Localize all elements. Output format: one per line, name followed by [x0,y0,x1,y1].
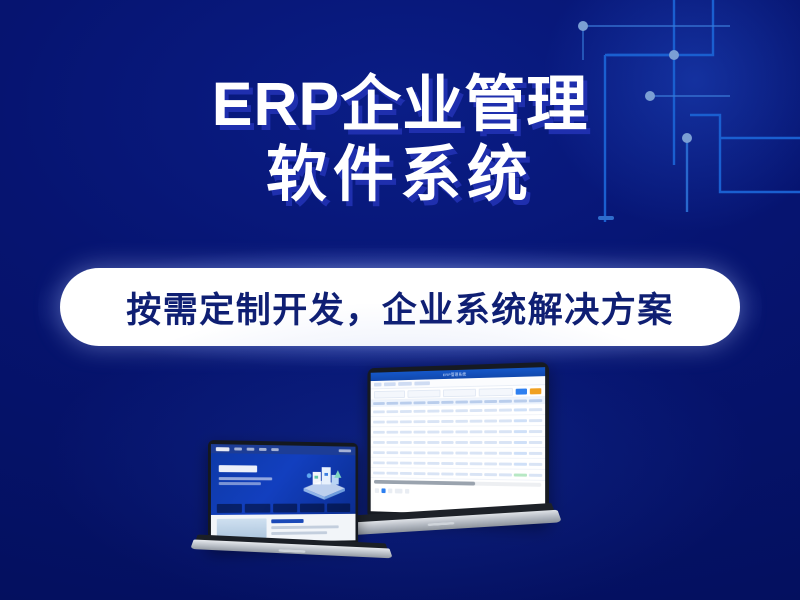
subtitle-pill-wrapper: 按需定制开发，企业系统解决方案 [60,268,740,346]
subtitle-text: 按需定制开发，企业系统解决方案 [126,282,674,333]
website-logo [216,447,230,451]
breadcrumb-chip[interactable] [414,381,430,385]
nav-item[interactable] [259,448,267,451]
website-hero [211,453,356,515]
isometric-illustration-icon [298,464,350,505]
nav-item[interactable] [234,448,242,451]
device-stage: ERP管理系统 [0,362,800,600]
filter-input[interactable] [443,388,476,396]
erp-brand-label: ERP管理系统 [443,371,466,377]
corporate-website-laptop [208,440,398,590]
search-button[interactable] [516,388,527,394]
website-screen [211,444,356,543]
footer-text-block [271,518,350,537]
hero-subtitle-line [219,477,272,480]
export-button[interactable] [530,388,541,394]
hero-card-row [217,503,350,512]
headline-line-1: ERP企业管理 [0,74,800,134]
breadcrumb-chip[interactable] [374,383,381,387]
hero-card[interactable] [300,504,324,513]
poster-canvas: ERP企业管理 软件系统 按需定制开发，企业系统解决方案 ERP管理系统 [0,0,800,600]
hero-subtitle-line [219,482,261,485]
breadcrumb-chip[interactable] [384,382,396,386]
nav-item[interactable] [247,448,255,451]
breadcrumb-chip[interactable] [398,382,412,386]
hero-card[interactable] [245,504,270,513]
hero-title [219,465,257,472]
hero-card[interactable] [327,503,350,512]
filter-input[interactable] [479,387,513,396]
headline-line-2: 软件系统 [0,144,800,204]
hero-card[interactable] [273,504,297,513]
page-jump[interactable] [405,488,409,493]
laptop-lid-small [208,440,358,547]
nav-item[interactable] [271,448,278,451]
filter-input[interactable] [408,389,440,397]
subtitle-pill: 按需定制开发，企业系统解决方案 [60,268,740,346]
hero-card[interactable] [217,504,243,513]
nav-contact[interactable] [339,450,351,453]
table-row[interactable] [371,426,545,437]
trackpad-small [279,549,306,553]
poster-headline: ERP企业管理 软件系统 [0,74,800,205]
trackpad-large [428,522,455,526]
filter-input[interactable] [374,390,405,398]
